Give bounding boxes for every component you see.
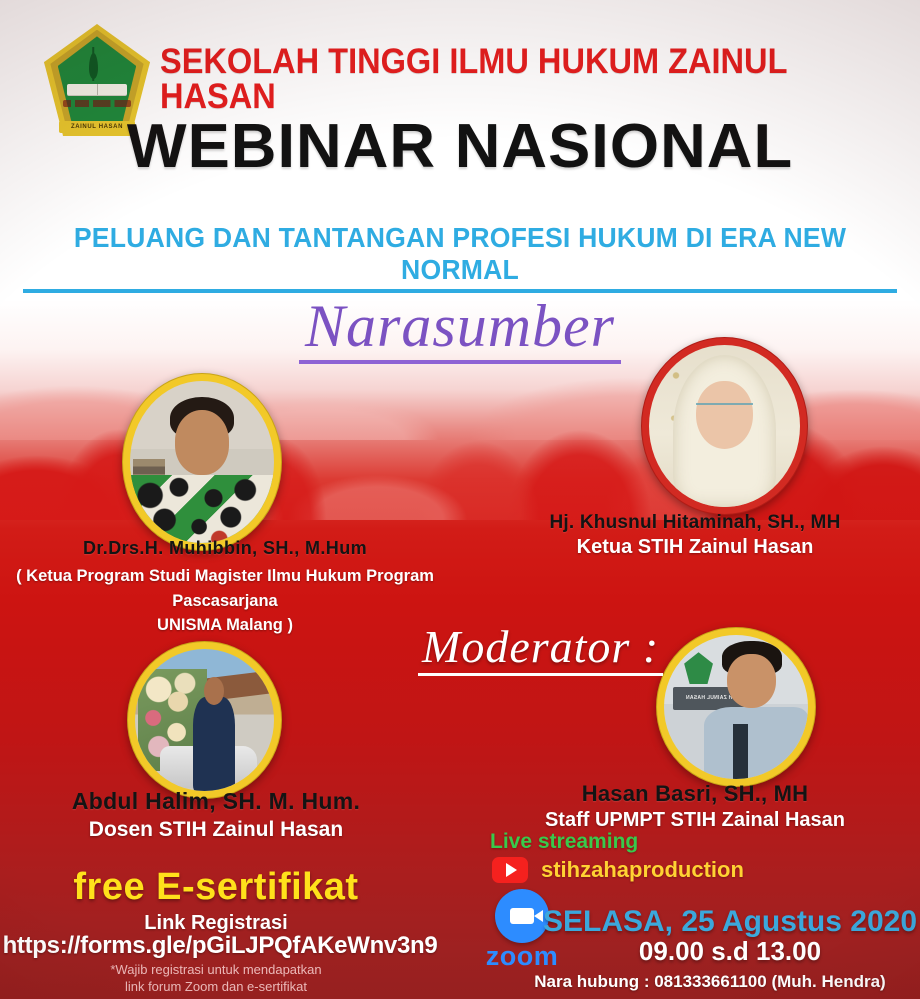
youtube-play-icon[interactable] xyxy=(492,857,528,883)
avatar-halim-image xyxy=(135,649,274,791)
free-certificate-label: free E-sertifikat xyxy=(0,868,432,906)
youtube-channel-row[interactable]: stihzahaproduction xyxy=(492,857,744,883)
speaker-name: Abdul Halim, SH. M. Hum. xyxy=(0,788,432,815)
registration-note-line2: link forum Zoom dan e-sertifikat xyxy=(0,979,432,996)
speakers-heading-container: Narasumber xyxy=(0,296,920,364)
speaker-caption-khusnul: Hj. Khusnul Hitaminah, SH., MH Ketua STI… xyxy=(470,512,920,559)
speaker-role-line2: UNISMA Malang ) xyxy=(7,613,444,638)
speaker-role: Dosen STIH Zainul Hasan xyxy=(0,818,432,842)
page-title: WEBINAR NASIONAL xyxy=(0,116,920,178)
tie-decor xyxy=(733,724,747,779)
camera-glyph-icon xyxy=(510,908,534,924)
youtube-channel-name: stihzahaproduction xyxy=(541,857,744,883)
registration-link-url[interactable]: https://forms.gle/pGiLJPQfAKeWnv3n9 xyxy=(0,932,440,960)
moderator-role: Staff UPMPT STIH Zainal Hasan xyxy=(470,809,920,832)
registration-note: *Wajib registrasi untuk mendapatkan link… xyxy=(0,962,432,996)
moderator-name: Hasan Basri, SH., MH xyxy=(470,781,920,807)
avatar-muhibbin xyxy=(122,373,282,551)
batik-shirt-decor xyxy=(130,475,274,543)
face-decor xyxy=(175,410,230,475)
face-decor xyxy=(727,654,776,709)
speaker-role: ( Ketua Program Studi Magister Ilmu Huku… xyxy=(7,564,444,638)
live-streaming-label: Live streaming xyxy=(490,830,638,854)
uniform-shirt-decor xyxy=(704,707,808,779)
moderator-heading: Moderator : xyxy=(418,624,663,676)
avatar-khusnul-image xyxy=(649,345,800,507)
speakers-heading: Narasumber xyxy=(299,296,621,364)
speaker-role-line1: ( Ketua Program Studi Magister Ilmu Huku… xyxy=(7,564,444,613)
arabic-script-icon xyxy=(63,100,131,107)
speaker-caption-halim: Abdul Halim, SH. M. Hum. Dosen STIH Zain… xyxy=(0,788,432,842)
moderator-caption: Hasan Basri, SH., MH Staff UPMPT STIH Za… xyxy=(470,781,920,832)
open-book-icon xyxy=(67,84,126,95)
organization-name: SEKOLAH TINGGI ILMU HUKUM ZAINUL HASAN xyxy=(160,44,848,114)
event-subtitle: PELUANG DAN TANTANGAN PROFESI HUKUM DI E… xyxy=(23,222,897,293)
speaker-name: Dr.Drs.H. Muhibbin, SH., M.Hum xyxy=(0,538,450,559)
leaf-icon xyxy=(89,53,98,79)
subtitle-container: PELUANG DAN TANTANGAN PROFESI HUKUM DI E… xyxy=(0,222,920,293)
moderator-heading-container: Moderator : xyxy=(418,624,718,676)
speaker-role: Ketua STIH Zainul Hasan xyxy=(470,536,920,559)
speaker-caption-muhibbin: Dr.Drs.H. Muhibbin, SH., M.Hum ( Ketua P… xyxy=(0,538,450,638)
webinar-poster: ZAINUL HASAN SEKOLAH TINGGI ILMU HUKUM Z… xyxy=(0,0,920,999)
play-triangle-icon xyxy=(506,863,517,877)
person-decor xyxy=(193,697,235,791)
contact-info: Nara hubung : 081333661100 (Muh. Hendra) xyxy=(500,972,920,992)
avatar-halim xyxy=(127,641,282,799)
speaker-name: Hj. Khusnul Hitaminah, SH., MH xyxy=(470,512,920,534)
avatar-khusnul xyxy=(641,337,808,515)
registration-note-line1: *Wajib registrasi untuk mendapatkan xyxy=(0,962,432,979)
glasses-decor xyxy=(696,403,753,416)
event-date: SELASA, 25 Agustus 2020 xyxy=(540,905,920,939)
avatar-muhibbin-image xyxy=(130,381,274,543)
event-time: 09.00 s.d 13.00 xyxy=(540,936,920,967)
